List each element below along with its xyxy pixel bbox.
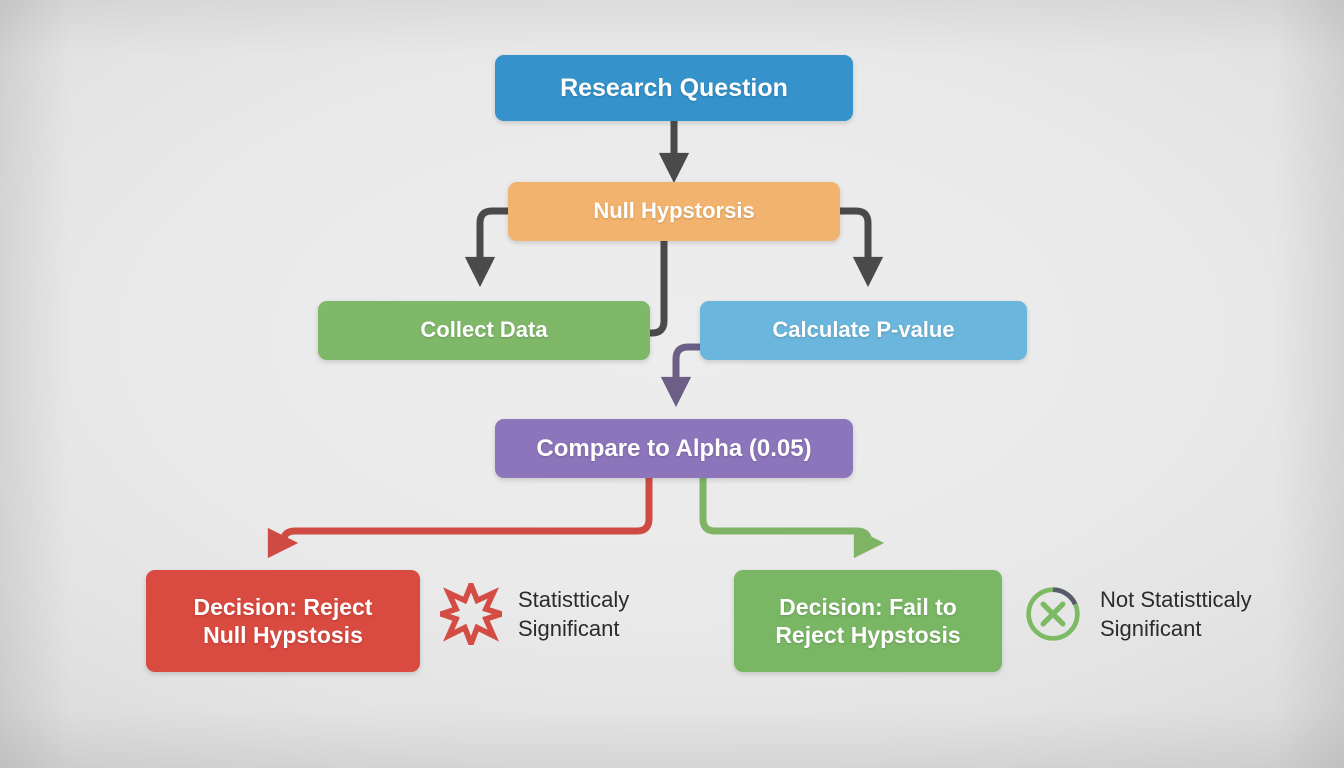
node-collect-data[interactable]: Collect Data [318,301,650,360]
node-decision-reject[interactable]: Decision: Reject Null Hypstosis [146,570,420,672]
legend-label-significant: Statistticaly Significant [518,585,629,644]
node-label: Null Hypstorsis [593,198,754,225]
node-label: Collect Data [420,317,547,344]
node-label-block: Decision: Fail to Reject Hypstosis [775,593,960,649]
node-label-line1: Decision: Reject [194,593,373,621]
starburst-icon [440,583,502,645]
legend-label-not-significant: Not Statistticaly Significant [1100,585,1252,644]
node-calculate-pvalue[interactable]: Calculate P-value [700,301,1027,360]
node-label: Compare to Alpha (0.05) [536,434,811,463]
node-label-line1: Decision: Fail to [775,593,960,621]
connector-pvalue-to-compare [676,347,700,392]
connector-null-to-collect [480,211,508,272]
node-label: Research Question [560,73,788,104]
connector-compare-to-reject [283,478,649,543]
node-label: Calculate P-value [772,317,954,344]
node-label-block: Decision: Reject Null Hypstosis [194,593,373,649]
connector-null-stem-to-collect [650,241,664,333]
node-research-question[interactable]: Research Question [495,55,853,121]
legend-not-significant: Not Statistticaly Significant [1022,583,1252,645]
connector-null-to-pvalue [840,211,868,272]
connector-compare-to-fail-reject [703,478,869,543]
flowchart-canvas: Research Question Null Hypstorsis Collec… [0,0,1344,768]
node-decision-fail-reject[interactable]: Decision: Fail to Reject Hypstosis [734,570,1002,672]
node-label-line2: Null Hypstosis [194,621,373,649]
node-label-line2: Reject Hypstosis [775,621,960,649]
node-null-hypothesis[interactable]: Null Hypstorsis [508,182,840,241]
node-compare-to-alpha[interactable]: Compare to Alpha (0.05) [495,419,853,478]
legend-significant: Statistticaly Significant [440,583,629,645]
circle-x-icon [1022,583,1084,645]
